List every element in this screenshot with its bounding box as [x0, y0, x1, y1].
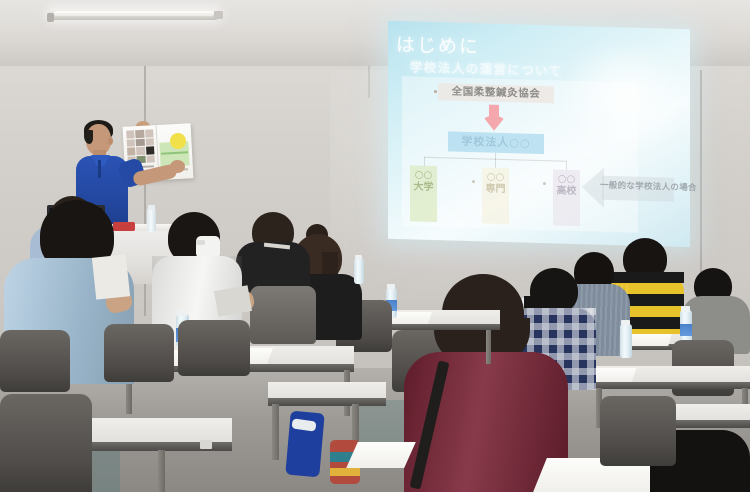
bottle-label	[680, 324, 692, 336]
desk-leg	[272, 404, 279, 460]
podium-water-bottle	[147, 208, 156, 232]
stripe	[608, 272, 684, 283]
chair	[104, 324, 174, 382]
diagram-connector-branch-2	[495, 159, 496, 168]
diagram-box-association: 全国柔整鍼灸協会	[438, 83, 554, 103]
diagram-box-university-label: ○○大学	[410, 165, 437, 193]
chair	[0, 330, 70, 392]
bottle-cap	[681, 306, 690, 312]
bottle-cap	[177, 310, 187, 316]
handout	[92, 254, 130, 299]
light-tube	[54, 11, 214, 16]
chair	[600, 396, 676, 466]
chair	[178, 320, 250, 376]
chair	[0, 394, 92, 492]
diagram-box-corporation: 学校法人○○	[448, 131, 544, 154]
light-cap-left	[47, 13, 54, 22]
desk-leg	[158, 450, 165, 492]
slide-content: はじめに 学校法人の運営について 全国柔整鍼灸協会 学校法人○○ ○○大学 ○○…	[396, 26, 684, 242]
bullet-dot-highschool	[543, 182, 546, 185]
diagram-box-vocational: ○○専門	[482, 167, 509, 224]
arrow-down-icon	[482, 104, 506, 131]
desk-leg	[486, 330, 491, 364]
bullet-dot-vocational	[472, 180, 475, 183]
desk-front-center-edge	[268, 398, 386, 406]
diagram-box-highschool: ○○高校	[553, 169, 580, 226]
water-bottle	[354, 258, 364, 284]
presenter-ear	[108, 137, 113, 145]
bottle-cap	[355, 255, 362, 259]
diagram-connector-branch-3	[566, 161, 567, 170]
podium-bottle-cap	[148, 205, 155, 210]
presenter-pointing-hand	[170, 160, 185, 173]
water-bottle	[620, 324, 632, 358]
diagram-box-association-label: 全国柔整鍼灸協会	[438, 83, 554, 103]
diagram-connector-branch-1	[424, 157, 425, 166]
bottle-cap	[387, 284, 395, 289]
bag-stripe	[330, 468, 360, 476]
chair	[250, 286, 316, 344]
light-cap-right	[214, 11, 223, 19]
mask-ear-loop	[196, 240, 205, 245]
paper-sheet	[346, 442, 416, 468]
desk-hook	[200, 440, 212, 449]
podium-red-object	[113, 222, 135, 231]
diagram-box-highschool-label: ○○高校	[553, 169, 580, 197]
bottle-cap	[621, 320, 630, 325]
presenter-placket	[98, 160, 101, 178]
bullet-dot-association	[434, 90, 437, 93]
arrow-left-icon: 一般的な学校法人の場合	[582, 167, 674, 210]
classroom-scene: はじめに 学校法人の運営について 全国柔整鍼灸協会 学校法人○○ ○○大学 ○○…	[0, 0, 750, 492]
diagram-box-vocational-label: ○○専門	[482, 167, 509, 195]
diagram-box-university: ○○大学	[410, 165, 437, 222]
presenter-hair-side	[84, 130, 93, 144]
diagram-box-corporation-label: 学校法人○○	[448, 131, 544, 154]
